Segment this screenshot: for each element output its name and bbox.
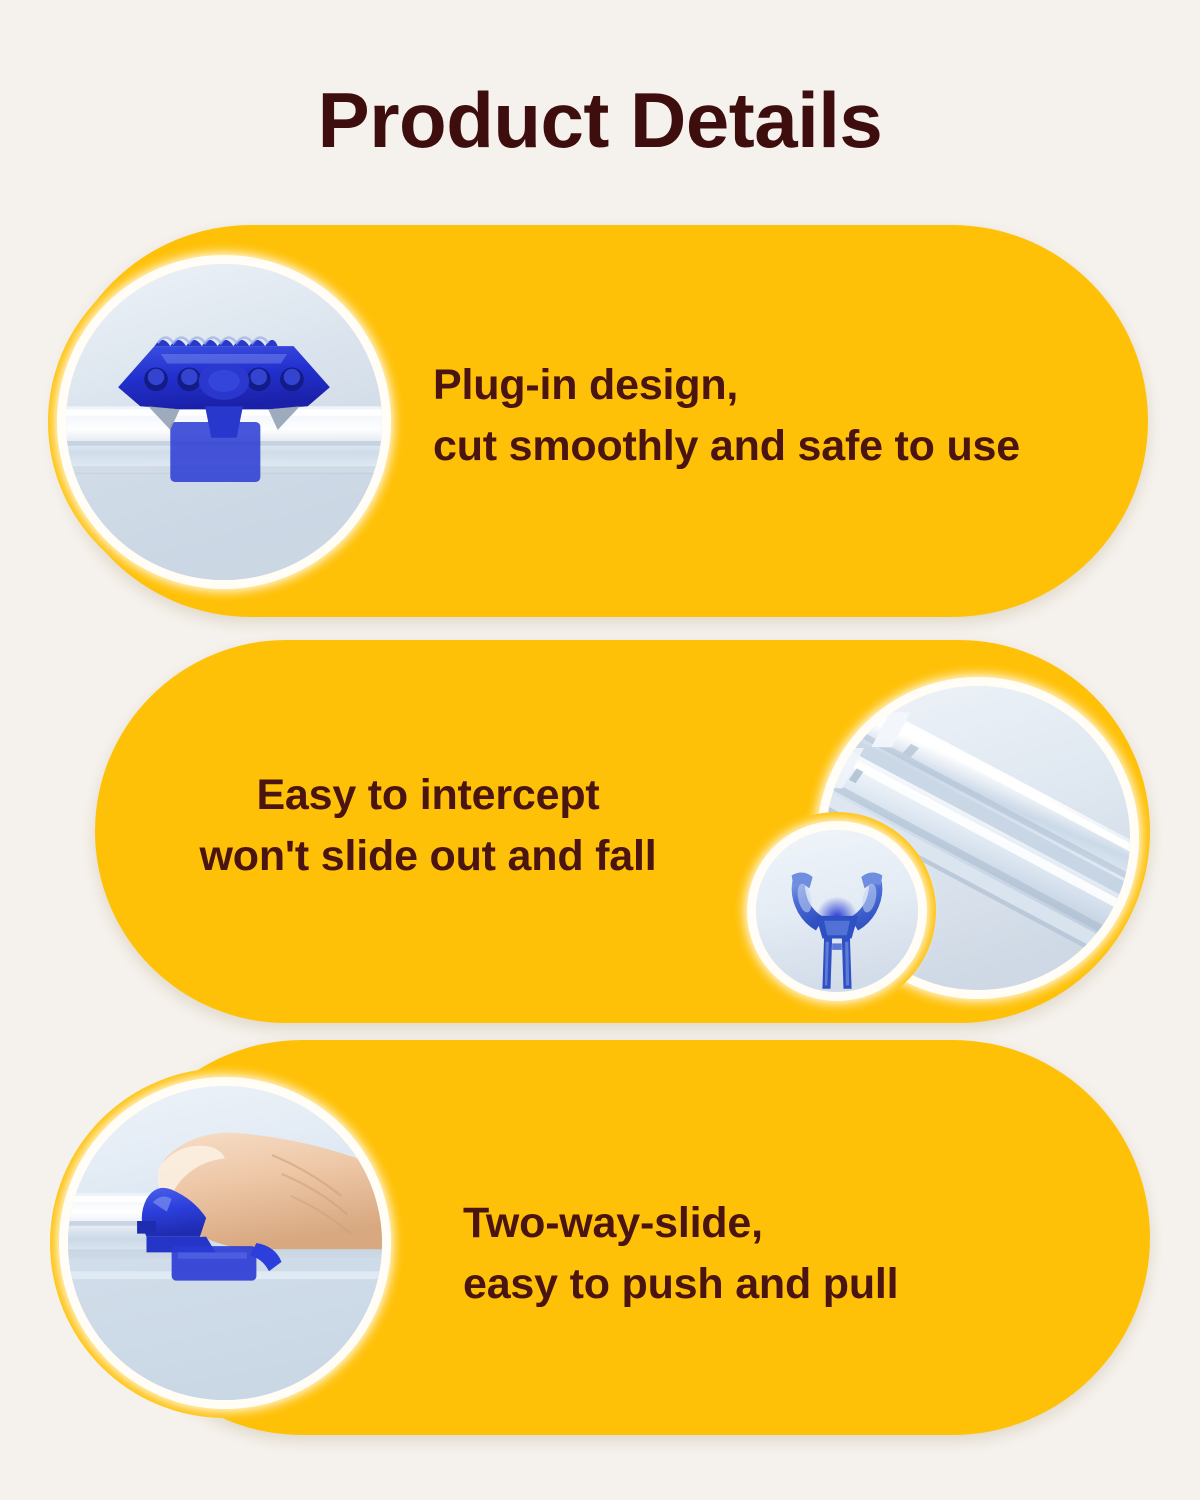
feature-text-two-way-slide: Two-way-slide, easy to push and pull [463, 1193, 898, 1315]
photo-ring [57, 255, 391, 589]
photo-image [66, 264, 382, 580]
feature-text-easy-to-intercept: Easy to intercept won't slide out and fa… [128, 765, 728, 887]
photo-image [756, 830, 918, 992]
blue-y-clip-stopper-photo [738, 812, 936, 1010]
photo-image [68, 1086, 382, 1400]
finger-pushing-blue-slider-photo [50, 1068, 400, 1418]
photo-ring [747, 821, 927, 1001]
feature-text-plug-in-design: Plug-in design, cut smoothly and safe to… [433, 355, 1020, 477]
page-title: Product Details [0, 78, 1200, 164]
photo-ring [59, 1077, 391, 1409]
blue-cutter-on-clear-rail-photo [48, 246, 400, 598]
